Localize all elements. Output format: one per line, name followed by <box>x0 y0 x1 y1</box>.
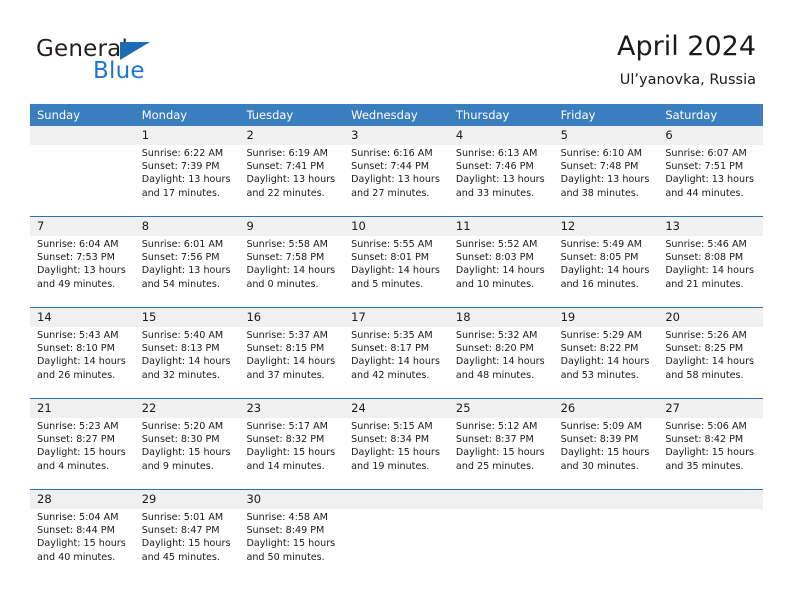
daylight-text: Daylight: 14 hours and 48 minutes. <box>456 355 550 381</box>
sunset-text: Sunset: 8:27 PM <box>37 433 131 446</box>
sunrise-text: Sunrise: 5:15 AM <box>351 420 445 433</box>
day-cell-details: Sunrise: 5:58 AMSunset: 7:58 PMDaylight:… <box>239 236 344 307</box>
day-number[interactable]: 28 <box>30 490 135 509</box>
sunset-text: Sunset: 8:01 PM <box>351 251 445 264</box>
week-detail-band: Sunrise: 5:43 AMSunset: 8:10 PMDaylight:… <box>30 327 763 398</box>
sunrise-text: Sunrise: 5:12 AM <box>456 420 550 433</box>
day-cell-details: Sunrise: 5:09 AMSunset: 8:39 PMDaylight:… <box>554 418 659 489</box>
day-number[interactable]: 20 <box>658 308 763 327</box>
calendar-week-row: 282930Sunrise: 5:04 AMSunset: 8:44 PMDay… <box>30 489 763 580</box>
sunset-text: Sunset: 8:30 PM <box>142 433 236 446</box>
day-cell-details: Sunrise: 5:46 AMSunset: 8:08 PMDaylight:… <box>658 236 763 307</box>
sunset-text: Sunset: 8:22 PM <box>561 342 655 355</box>
title-block: April 2024 Ul’yanovka, Russia <box>617 30 756 90</box>
week-day-number-band: 21222324252627 <box>30 399 763 418</box>
page-subtitle: Ul’yanovka, Russia <box>617 70 756 90</box>
day-number-empty <box>658 490 763 509</box>
day-cell-empty <box>344 509 449 580</box>
sunrise-text: Sunrise: 6:04 AM <box>37 238 131 251</box>
sunset-text: Sunset: 7:51 PM <box>665 160 759 173</box>
day-number[interactable]: 5 <box>554 126 659 145</box>
day-number[interactable]: 25 <box>449 399 554 418</box>
sunset-text: Sunset: 8:10 PM <box>37 342 131 355</box>
daylight-text: Daylight: 13 hours and 44 minutes. <box>665 173 759 199</box>
sunrise-text: Sunrise: 5:32 AM <box>456 329 550 342</box>
day-of-week-header-saturday: Saturday <box>658 104 763 126</box>
sunset-text: Sunset: 7:39 PM <box>142 160 236 173</box>
page-title: April 2024 <box>617 30 756 64</box>
daylight-text: Daylight: 13 hours and 22 minutes. <box>246 173 340 199</box>
daylight-text: Daylight: 14 hours and 58 minutes. <box>665 355 759 381</box>
sunset-text: Sunset: 8:05 PM <box>561 251 655 264</box>
day-cell-details: Sunrise: 5:35 AMSunset: 8:17 PMDaylight:… <box>344 327 449 398</box>
day-cell-details: Sunrise: 5:17 AMSunset: 8:32 PMDaylight:… <box>239 418 344 489</box>
day-number[interactable]: 19 <box>554 308 659 327</box>
day-cell-details: Sunrise: 5:15 AMSunset: 8:34 PMDaylight:… <box>344 418 449 489</box>
day-of-week-header-monday: Monday <box>135 104 240 126</box>
day-cell-details: Sunrise: 5:23 AMSunset: 8:27 PMDaylight:… <box>30 418 135 489</box>
sunrise-text: Sunrise: 5:17 AM <box>246 420 340 433</box>
sunset-text: Sunset: 7:46 PM <box>456 160 550 173</box>
page-header: General Blue April 2024 Ul’yanovka, Russ… <box>0 0 792 104</box>
sunrise-text: Sunrise: 5:06 AM <box>665 420 759 433</box>
sunset-text: Sunset: 7:58 PM <box>246 251 340 264</box>
sunrise-text: Sunrise: 5:37 AM <box>246 329 340 342</box>
sunrise-text: Sunrise: 5:26 AM <box>665 329 759 342</box>
daylight-text: Daylight: 13 hours and 54 minutes. <box>142 264 236 290</box>
day-number[interactable]: 16 <box>239 308 344 327</box>
week-day-number-band: 123456 <box>30 126 763 145</box>
sunrise-text: Sunrise: 5:29 AM <box>561 329 655 342</box>
day-cell-details: Sunrise: 6:16 AMSunset: 7:44 PMDaylight:… <box>344 145 449 216</box>
daylight-text: Daylight: 15 hours and 50 minutes. <box>246 537 340 563</box>
sunrise-text: Sunrise: 6:01 AM <box>142 238 236 251</box>
daylight-text: Daylight: 15 hours and 30 minutes. <box>561 446 655 472</box>
day-cell-details: Sunrise: 5:43 AMSunset: 8:10 PMDaylight:… <box>30 327 135 398</box>
sunrise-text: Sunrise: 5:49 AM <box>561 238 655 251</box>
calendar-week-row: 123456Sunrise: 6:22 AMSunset: 7:39 PMDay… <box>30 126 763 216</box>
daylight-text: Daylight: 14 hours and 21 minutes. <box>665 264 759 290</box>
day-cell-empty <box>449 509 554 580</box>
day-cell-empty <box>554 509 659 580</box>
day-number[interactable]: 14 <box>30 308 135 327</box>
day-number-empty <box>449 490 554 509</box>
day-cell-details: Sunrise: 5:55 AMSunset: 8:01 PMDaylight:… <box>344 236 449 307</box>
sunrise-text: Sunrise: 4:58 AM <box>246 511 340 524</box>
day-cell-details: Sunrise: 5:52 AMSunset: 8:03 PMDaylight:… <box>449 236 554 307</box>
day-of-week-header-thursday: Thursday <box>449 104 554 126</box>
calendar-page: General Blue April 2024 Ul’yanovka, Russ… <box>0 0 792 612</box>
daylight-text: Daylight: 14 hours and 16 minutes. <box>561 264 655 290</box>
daylight-text: Daylight: 14 hours and 37 minutes. <box>246 355 340 381</box>
week-detail-band: Sunrise: 5:04 AMSunset: 8:44 PMDaylight:… <box>30 509 763 580</box>
daylight-text: Daylight: 15 hours and 19 minutes. <box>351 446 445 472</box>
sunrise-text: Sunrise: 6:10 AM <box>561 147 655 160</box>
day-cell-details: Sunrise: 5:37 AMSunset: 8:15 PMDaylight:… <box>239 327 344 398</box>
sunrise-text: Sunrise: 5:40 AM <box>142 329 236 342</box>
day-of-week-header-tuesday: Tuesday <box>239 104 344 126</box>
day-number[interactable]: 13 <box>658 217 763 236</box>
sunset-text: Sunset: 8:32 PM <box>246 433 340 446</box>
calendar-week-row: 14151617181920Sunrise: 5:43 AMSunset: 8:… <box>30 307 763 398</box>
calendar-grid: SundayMondayTuesdayWednesdayThursdayFrid… <box>30 104 763 580</box>
day-cell-details: Sunrise: 6:10 AMSunset: 7:48 PMDaylight:… <box>554 145 659 216</box>
sunrise-text: Sunrise: 5:52 AM <box>456 238 550 251</box>
day-cell-details: Sunrise: 6:19 AMSunset: 7:41 PMDaylight:… <box>239 145 344 216</box>
day-number[interactable]: 24 <box>344 399 449 418</box>
day-cell-details: Sunrise: 4:58 AMSunset: 8:49 PMDaylight:… <box>239 509 344 580</box>
day-of-week-header-wednesday: Wednesday <box>344 104 449 126</box>
daylight-text: Daylight: 15 hours and 25 minutes. <box>456 446 550 472</box>
day-cell-details: Sunrise: 5:20 AMSunset: 8:30 PMDaylight:… <box>135 418 240 489</box>
day-cell-details: Sunrise: 5:06 AMSunset: 8:42 PMDaylight:… <box>658 418 763 489</box>
sunset-text: Sunset: 8:34 PM <box>351 433 445 446</box>
sunset-text: Sunset: 8:03 PM <box>456 251 550 264</box>
sunset-text: Sunset: 8:25 PM <box>665 342 759 355</box>
sunset-text: Sunset: 8:15 PM <box>246 342 340 355</box>
sunrise-text: Sunrise: 5:23 AM <box>37 420 131 433</box>
calendar-weeks: 123456Sunrise: 6:22 AMSunset: 7:39 PMDay… <box>30 126 763 580</box>
sunrise-text: Sunrise: 5:58 AM <box>246 238 340 251</box>
sunrise-text: Sunrise: 6:19 AM <box>246 147 340 160</box>
daylight-text: Daylight: 13 hours and 27 minutes. <box>351 173 445 199</box>
day-cell-details: Sunrise: 5:29 AMSunset: 8:22 PMDaylight:… <box>554 327 659 398</box>
day-number[interactable]: 9 <box>239 217 344 236</box>
daylight-text: Daylight: 13 hours and 49 minutes. <box>37 264 131 290</box>
sunset-text: Sunset: 7:48 PM <box>561 160 655 173</box>
day-cell-details: Sunrise: 6:04 AMSunset: 7:53 PMDaylight:… <box>30 236 135 307</box>
daylight-text: Daylight: 14 hours and 32 minutes. <box>142 355 236 381</box>
day-cell-details: Sunrise: 6:07 AMSunset: 7:51 PMDaylight:… <box>658 145 763 216</box>
sunset-text: Sunset: 7:41 PM <box>246 160 340 173</box>
sunset-text: Sunset: 8:47 PM <box>142 524 236 537</box>
daylight-text: Daylight: 14 hours and 42 minutes. <box>351 355 445 381</box>
day-number[interactable]: 18 <box>449 308 554 327</box>
week-day-number-band: 78910111213 <box>30 217 763 236</box>
sunset-text: Sunset: 8:20 PM <box>456 342 550 355</box>
day-number[interactable]: 26 <box>554 399 659 418</box>
day-cell-details: Sunrise: 6:01 AMSunset: 7:56 PMDaylight:… <box>135 236 240 307</box>
day-of-week-header-row: SundayMondayTuesdayWednesdayThursdayFrid… <box>30 104 763 126</box>
sunrise-text: Sunrise: 5:20 AM <box>142 420 236 433</box>
day-number-empty <box>554 490 659 509</box>
day-number[interactable]: 4 <box>449 126 554 145</box>
day-number[interactable]: 2 <box>239 126 344 145</box>
sunrise-text: Sunrise: 6:22 AM <box>142 147 236 160</box>
day-of-week-header-sunday: Sunday <box>30 104 135 126</box>
day-number[interactable]: 8 <box>135 217 240 236</box>
week-detail-band: Sunrise: 6:04 AMSunset: 7:53 PMDaylight:… <box>30 236 763 307</box>
day-number[interactable]: 21 <box>30 399 135 418</box>
day-cell-details: Sunrise: 5:49 AMSunset: 8:05 PMDaylight:… <box>554 236 659 307</box>
day-of-week-header-friday: Friday <box>554 104 659 126</box>
calendar-week-row: 78910111213Sunrise: 6:04 AMSunset: 7:53 … <box>30 216 763 307</box>
daylight-text: Daylight: 15 hours and 9 minutes. <box>142 446 236 472</box>
sunset-text: Sunset: 8:49 PM <box>246 524 340 537</box>
week-day-number-band: 14151617181920 <box>30 308 763 327</box>
sunrise-text: Sunrise: 5:04 AM <box>37 511 131 524</box>
day-number[interactable]: 10 <box>344 217 449 236</box>
day-number[interactable]: 11 <box>449 217 554 236</box>
sunset-text: Sunset: 7:44 PM <box>351 160 445 173</box>
sunrise-text: Sunrise: 5:35 AM <box>351 329 445 342</box>
day-number[interactable]: 3 <box>344 126 449 145</box>
daylight-text: Daylight: 14 hours and 53 minutes. <box>561 355 655 381</box>
calendar-week-row: 21222324252627Sunrise: 5:23 AMSunset: 8:… <box>30 398 763 489</box>
daylight-text: Daylight: 14 hours and 26 minutes. <box>37 355 131 381</box>
daylight-text: Daylight: 14 hours and 5 minutes. <box>351 264 445 290</box>
sunset-text: Sunset: 8:39 PM <box>561 433 655 446</box>
daylight-text: Daylight: 15 hours and 35 minutes. <box>665 446 759 472</box>
day-cell-details: Sunrise: 5:26 AMSunset: 8:25 PMDaylight:… <box>658 327 763 398</box>
sunset-text: Sunset: 8:17 PM <box>351 342 445 355</box>
sunrise-text: Sunrise: 5:43 AM <box>37 329 131 342</box>
day-number[interactable]: 23 <box>239 399 344 418</box>
daylight-text: Daylight: 15 hours and 14 minutes. <box>246 446 340 472</box>
day-cell-empty <box>658 509 763 580</box>
sunset-text: Sunset: 8:44 PM <box>37 524 131 537</box>
day-number[interactable]: 1 <box>135 126 240 145</box>
sunrise-text: Sunrise: 5:46 AM <box>665 238 759 251</box>
sunset-text: Sunset: 7:53 PM <box>37 251 131 264</box>
day-number[interactable]: 17 <box>344 308 449 327</box>
day-number[interactable]: 12 <box>554 217 659 236</box>
day-number[interactable]: 15 <box>135 308 240 327</box>
logo-text-blue: Blue <box>93 58 145 84</box>
sunrise-text: Sunrise: 6:13 AM <box>456 147 550 160</box>
day-number[interactable]: 29 <box>135 490 240 509</box>
day-cell-details: Sunrise: 5:32 AMSunset: 8:20 PMDaylight:… <box>449 327 554 398</box>
sunset-text: Sunset: 8:13 PM <box>142 342 236 355</box>
day-cell-details: Sunrise: 6:22 AMSunset: 7:39 PMDaylight:… <box>135 145 240 216</box>
daylight-text: Daylight: 15 hours and 45 minutes. <box>142 537 236 563</box>
sunrise-text: Sunrise: 6:07 AM <box>665 147 759 160</box>
day-cell-details: Sunrise: 5:40 AMSunset: 8:13 PMDaylight:… <box>135 327 240 398</box>
daylight-text: Daylight: 15 hours and 4 minutes. <box>37 446 131 472</box>
week-day-number-band: 282930 <box>30 490 763 509</box>
sunrise-text: Sunrise: 5:55 AM <box>351 238 445 251</box>
sunrise-text: Sunrise: 5:01 AM <box>142 511 236 524</box>
day-number[interactable]: 22 <box>135 399 240 418</box>
week-detail-band: Sunrise: 5:23 AMSunset: 8:27 PMDaylight:… <box>30 418 763 489</box>
day-number[interactable]: 6 <box>658 126 763 145</box>
day-number-empty <box>30 126 135 145</box>
daylight-text: Daylight: 13 hours and 33 minutes. <box>456 173 550 199</box>
sunset-text: Sunset: 7:56 PM <box>142 251 236 264</box>
sunset-text: Sunset: 8:42 PM <box>665 433 759 446</box>
daylight-text: Daylight: 15 hours and 40 minutes. <box>37 537 131 563</box>
daylight-text: Daylight: 13 hours and 17 minutes. <box>142 173 236 199</box>
day-cell-empty <box>30 145 135 216</box>
daylight-text: Daylight: 14 hours and 10 minutes. <box>456 264 550 290</box>
sunrise-text: Sunrise: 5:09 AM <box>561 420 655 433</box>
week-detail-band: Sunrise: 6:22 AMSunset: 7:39 PMDaylight:… <box>30 145 763 216</box>
day-cell-details: Sunrise: 5:12 AMSunset: 8:37 PMDaylight:… <box>449 418 554 489</box>
daylight-text: Daylight: 13 hours and 38 minutes. <box>561 173 655 199</box>
day-number[interactable]: 30 <box>239 490 344 509</box>
day-cell-details: Sunrise: 5:01 AMSunset: 8:47 PMDaylight:… <box>135 509 240 580</box>
day-number[interactable]: 7 <box>30 217 135 236</box>
sunrise-text: Sunrise: 6:16 AM <box>351 147 445 160</box>
sunset-text: Sunset: 8:37 PM <box>456 433 550 446</box>
daylight-text: Daylight: 14 hours and 0 minutes. <box>246 264 340 290</box>
general-blue-logo: General Blue <box>36 36 256 92</box>
sunset-text: Sunset: 8:08 PM <box>665 251 759 264</box>
day-number-empty <box>344 490 449 509</box>
day-cell-details: Sunrise: 5:04 AMSunset: 8:44 PMDaylight:… <box>30 509 135 580</box>
day-cell-details: Sunrise: 6:13 AMSunset: 7:46 PMDaylight:… <box>449 145 554 216</box>
day-number[interactable]: 27 <box>658 399 763 418</box>
